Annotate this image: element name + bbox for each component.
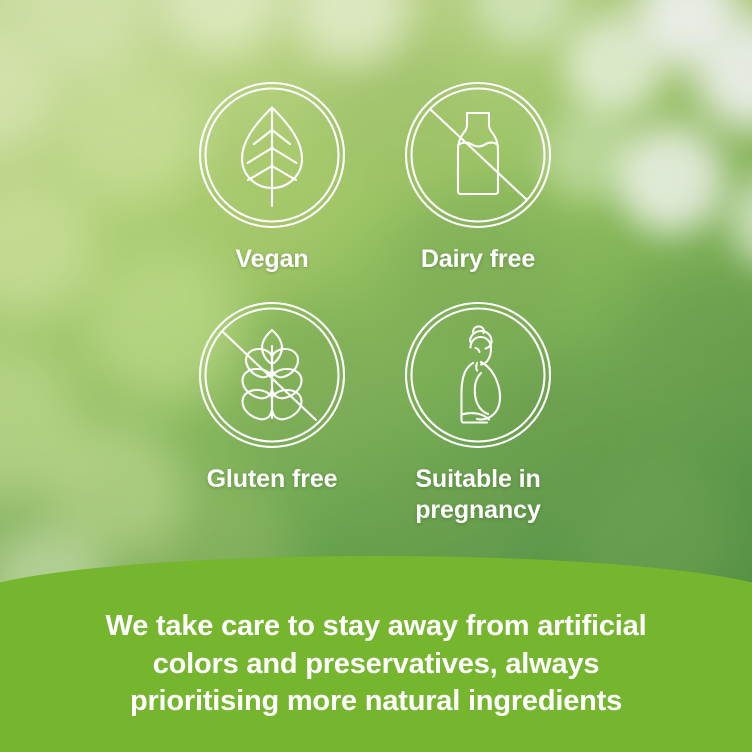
badge-gluten-free: Gluten free [172, 300, 372, 495]
pregnant-woman-icon [403, 300, 553, 450]
badge-dairy-free: Dairy free [378, 80, 578, 275]
badge-vegan: Vegan [172, 80, 372, 275]
badge-suitable-in-pregnancy: Suitable in pregnancy [378, 300, 578, 525]
tagline-banner: We take care to stay away from artificia… [0, 556, 752, 752]
badge-label: Gluten free [172, 464, 372, 495]
wheat-no-icon [197, 300, 347, 450]
tagline-text: We take care to stay away from artificia… [106, 608, 647, 721]
product-benefits-banner: Vegan Dairy free [0, 0, 752, 752]
badge-label: Suitable in pregnancy [378, 464, 578, 525]
milk-bottle-no-icon [403, 80, 553, 230]
badge-label: Vegan [172, 244, 372, 275]
badge-label: Dairy free [378, 244, 578, 275]
leaf-icon [197, 80, 347, 230]
badge-grid: Vegan Dairy free [0, 0, 752, 560]
tagline-banner-inner: We take care to stay away from artificia… [0, 556, 752, 752]
